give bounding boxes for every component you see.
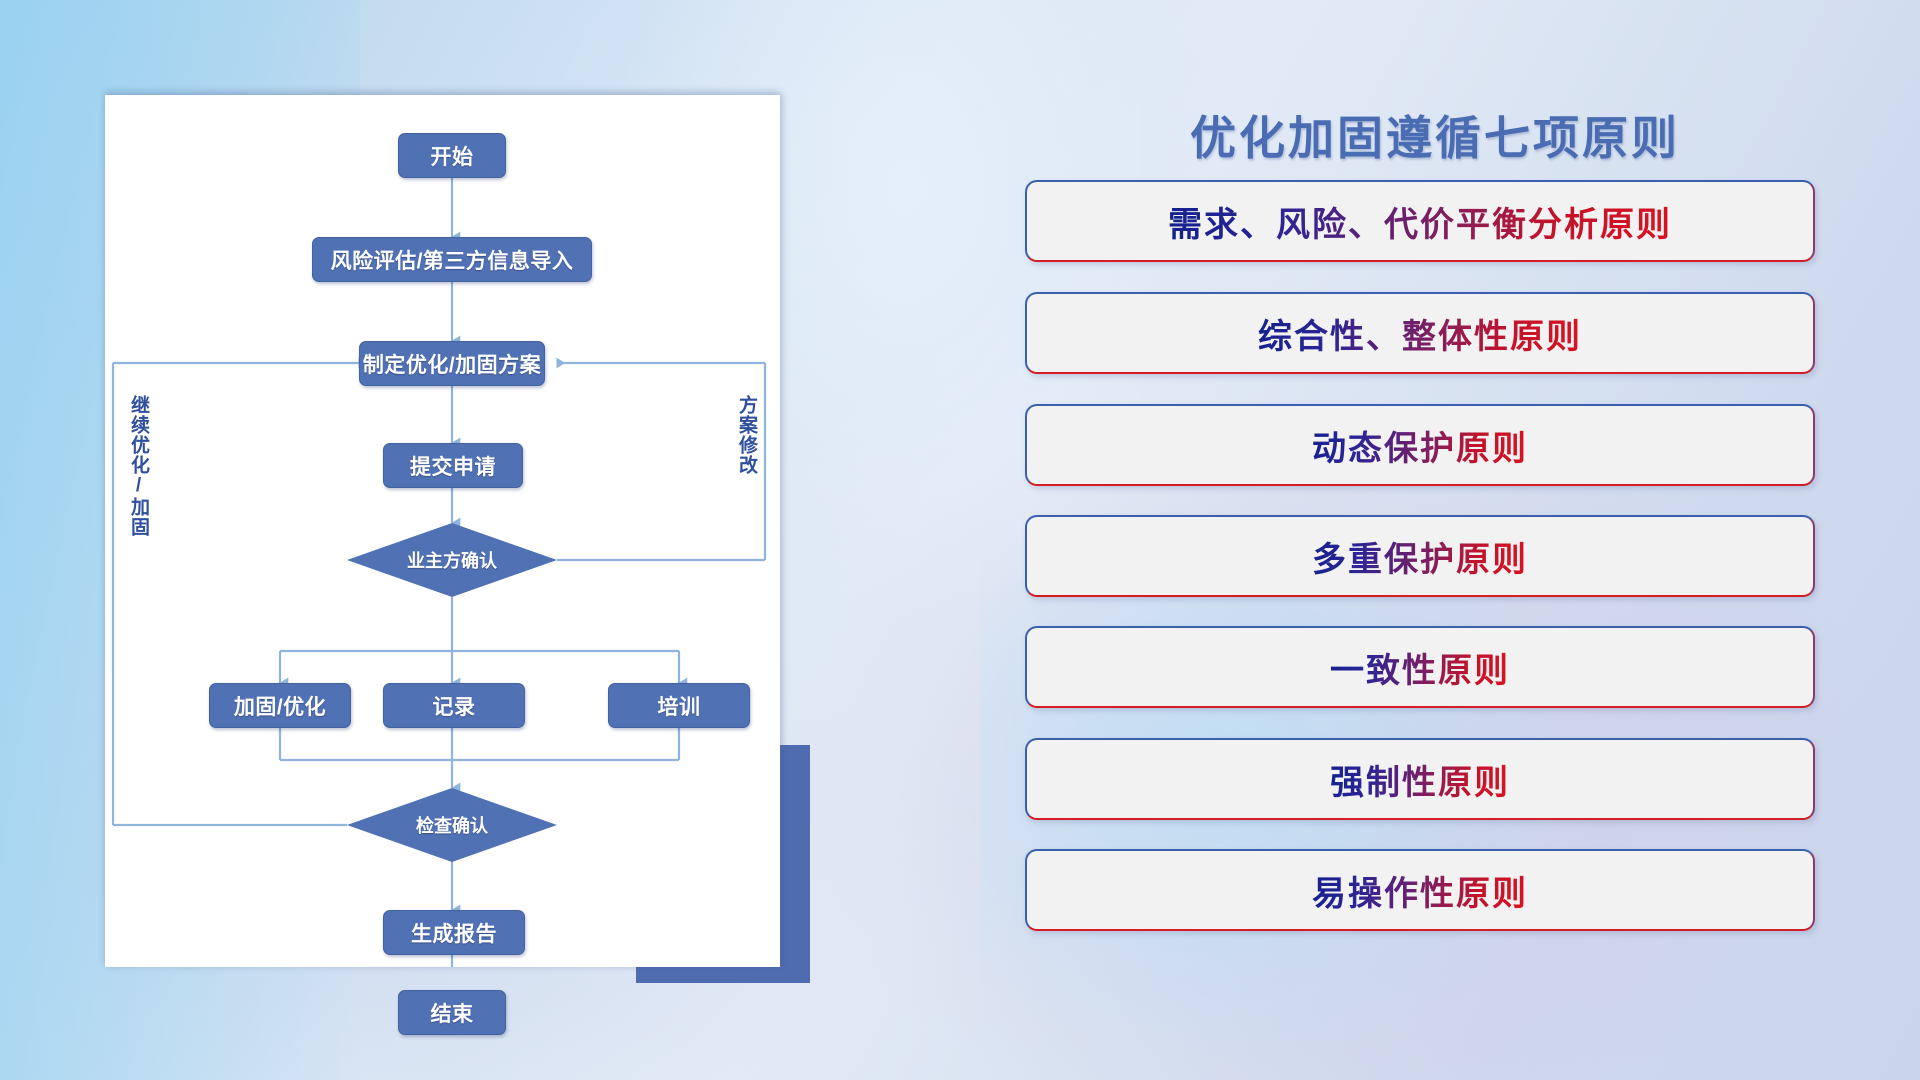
flow-edge-label-plan-revision: 方案修改 bbox=[737, 395, 756, 475]
flow-node-submit-application[interactable]: 提交申请 bbox=[383, 443, 523, 488]
flow-node-start[interactable]: 开始 bbox=[398, 133, 506, 178]
principle-item-2[interactable]: 综合性、整体性原则 bbox=[1025, 292, 1815, 374]
flow-edge-label-continue-optimize: 继续优化/加固 bbox=[129, 395, 148, 537]
principle-label: 强制性原则 bbox=[1330, 755, 1510, 804]
principles-title: 优化加固遵循七项原则 bbox=[1020, 102, 1850, 168]
principle-item-3[interactable]: 动态保护原则 bbox=[1025, 404, 1815, 486]
principle-item-4[interactable]: 多重保护原则 bbox=[1025, 515, 1815, 597]
principle-item-6[interactable]: 强制性原则 bbox=[1025, 738, 1815, 820]
principle-label: 综合性、整体性原则 bbox=[1258, 309, 1582, 358]
principles-panel: 优化加固遵循七项原则 需求、风险、代价平衡分析原则 综合性、整体性原则 动态保护… bbox=[1020, 80, 1850, 1010]
principle-label: 多重保护原则 bbox=[1312, 532, 1528, 581]
principle-item-7[interactable]: 易操作性原则 bbox=[1025, 849, 1815, 931]
flowchart-card: 开始 风险评估/第三方信息导入 制定优化/加固方案 提交申请 业主方确认 加固/… bbox=[105, 95, 780, 967]
flow-node-make-plan[interactable]: 制定优化/加固方案 bbox=[359, 341, 545, 386]
principle-label: 一致性原则 bbox=[1330, 643, 1510, 692]
flow-node-end[interactable]: 结束 bbox=[398, 990, 506, 1035]
flow-node-record[interactable]: 记录 bbox=[383, 683, 525, 728]
flow-node-risk-assessment[interactable]: 风险评估/第三方信息导入 bbox=[312, 237, 592, 282]
flow-node-reinforce-optimize[interactable]: 加固/优化 bbox=[209, 683, 351, 728]
principle-item-1[interactable]: 需求、风险、代价平衡分析原则 bbox=[1025, 180, 1815, 262]
principle-item-5[interactable]: 一致性原则 bbox=[1025, 626, 1815, 708]
flow-node-training[interactable]: 培训 bbox=[608, 683, 750, 728]
flow-node-generate-report[interactable]: 生成报告 bbox=[383, 910, 525, 955]
principle-label: 动态保护原则 bbox=[1312, 421, 1528, 470]
principle-label: 易操作性原则 bbox=[1312, 866, 1528, 915]
principle-label: 需求、风险、代价平衡分析原则 bbox=[1168, 197, 1672, 246]
